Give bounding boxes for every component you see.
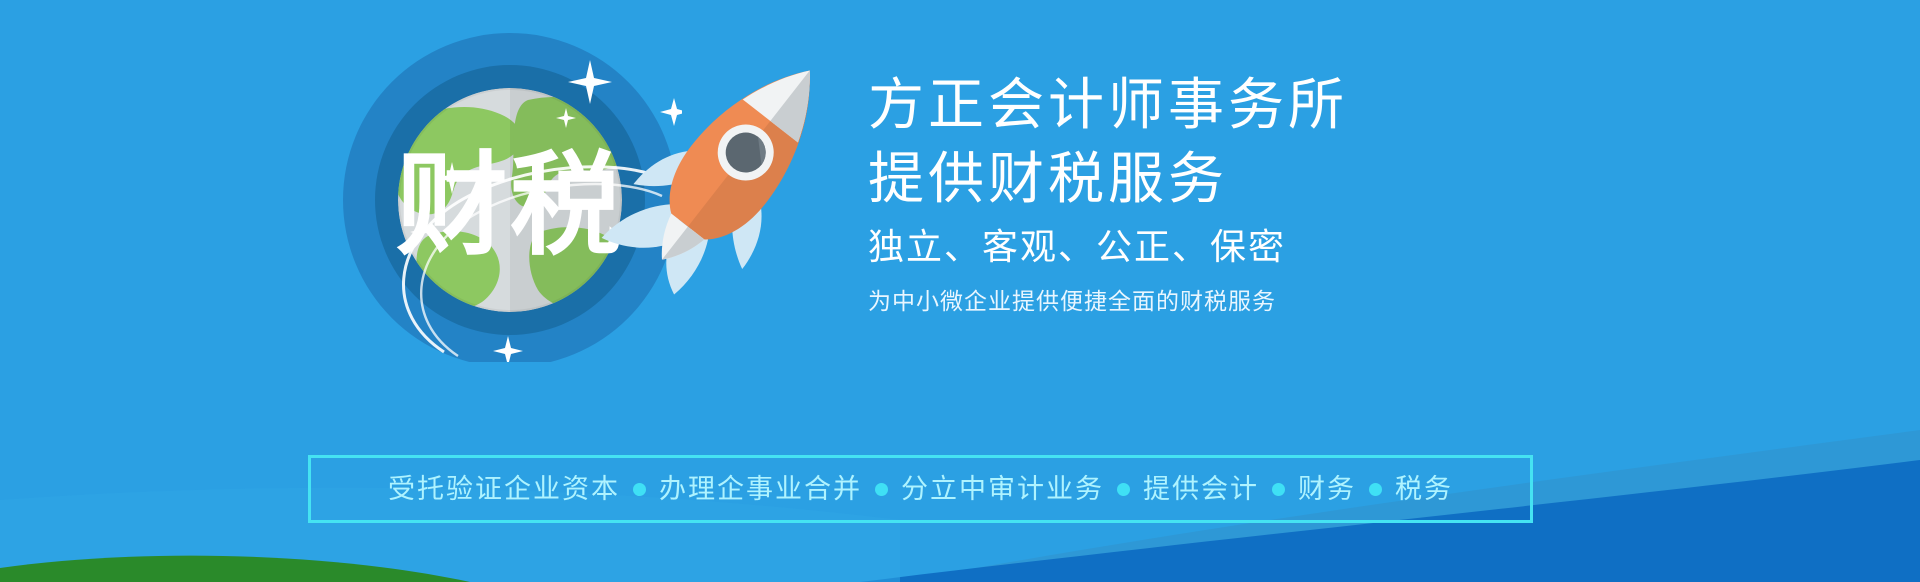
service-separator-dot xyxy=(1272,483,1285,496)
services-list: 受托验证企业资本办理企事业合并分立中审计业务提供会计财务税务 xyxy=(388,476,1453,503)
headline-copy: 方正会计师事务所 提供财税服务 独立、客观、公正、保密 为中小微企业提供便捷全面… xyxy=(868,68,1568,324)
service-item: 受托验证企业资本 xyxy=(388,476,620,503)
service-item: 办理企事业合并 xyxy=(659,476,862,503)
headline-line-2: 提供财税服务 xyxy=(868,142,1568,216)
service-separator-dot xyxy=(1117,483,1130,496)
headline-line-4: 为中小微企业提供便捷全面的财税服务 xyxy=(868,278,1568,324)
services-strip: 受托验证企业资本办理企事业合并分立中审计业务提供会计财务税务 xyxy=(308,455,1533,523)
promotional-banner: 财税 方正会计师事务所 提供财税服务 xyxy=(0,0,1920,582)
headline-line-1: 方正会计师事务所 xyxy=(868,68,1568,142)
service-item: 财务 xyxy=(1298,476,1356,503)
service-item: 税务 xyxy=(1395,476,1453,503)
service-separator-dot xyxy=(633,483,646,496)
rocket-icon xyxy=(560,18,920,308)
service-separator-dot xyxy=(1369,483,1382,496)
service-item: 提供会计 xyxy=(1143,476,1259,503)
headline-line-3: 独立、客观、公正、保密 xyxy=(868,216,1568,278)
service-separator-dot xyxy=(875,483,888,496)
service-item: 分立中审计业务 xyxy=(901,476,1104,503)
